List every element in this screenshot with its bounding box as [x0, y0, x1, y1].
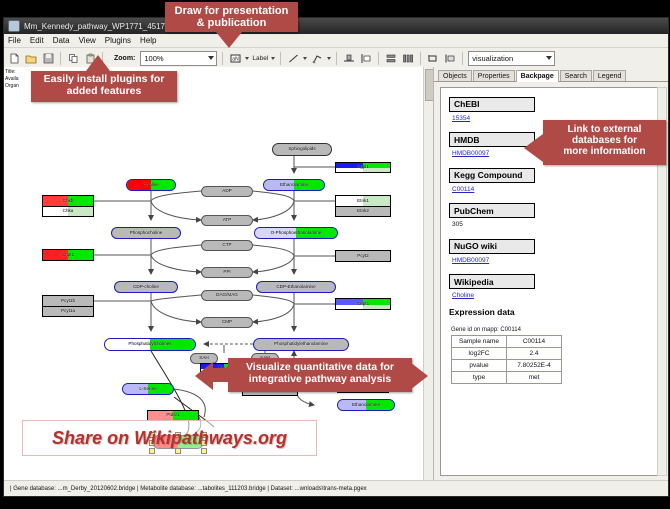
metabolite-cdp-ethanolamine[interactable]: CDP-Ethanolamine	[256, 281, 336, 293]
callout-links: Link to external databases for more info…	[543, 120, 666, 165]
node-label: Cept1	[357, 302, 369, 307]
gene-chpt1[interactable]: Chpt1	[42, 249, 94, 261]
metabolite-ctp[interactable]: CTP	[201, 240, 253, 251]
open-folder-icon[interactable]	[24, 51, 38, 65]
toolbar-separator	[420, 52, 421, 65]
node-label: Pcyt2	[357, 254, 369, 259]
chevron-down-icon	[208, 56, 214, 60]
node-label: CDP-choline	[133, 285, 159, 290]
db-header-kegg-compound: Kegg Compound	[449, 168, 535, 183]
toolbar-separator	[60, 52, 61, 65]
metabolite-ppi[interactable]: PPi	[201, 267, 253, 278]
gene-id-on-mapp: Gene id on mapp: C00114	[451, 327, 657, 333]
node-label: Phosphatidylethanolamine	[274, 342, 328, 347]
gene-sgpl1[interactable]: Sgpl1	[335, 162, 391, 173]
chevron-down-icon[interactable]	[245, 57, 249, 60]
screenshot-root: Mm_Kennedy_pathway_WP1771_45176.gpml Fil…	[0, 0, 670, 509]
meta-organism-label: Organ	[5, 83, 19, 90]
db-header-pubchem: PubChem	[449, 203, 535, 218]
callout-draw-arrow-stem	[224, 30, 234, 38]
meta-title-label: Title:	[5, 69, 19, 76]
label-dropdown-label[interactable]: Label	[252, 55, 268, 62]
metabolite-dag-mag[interactable]: DAG/MAG	[201, 290, 253, 301]
zoom-label: Zoom:	[114, 55, 135, 62]
visualization-combo[interactable]: visualization	[468, 51, 555, 66]
node-label: Chkb	[63, 199, 74, 204]
gene-etnk1[interactable]: Etnk1	[335, 195, 391, 206]
metabolite-phosphatidylcholines[interactable]: Phosphatidylcholines	[104, 338, 196, 351]
node-label: L-Serine	[139, 387, 156, 392]
node-label: Pcyt1b	[61, 299, 75, 304]
shape-icon[interactable]	[310, 51, 324, 65]
tab-properties[interactable]: Properties	[473, 70, 515, 81]
tab-backpage[interactable]: Backpage	[516, 70, 559, 82]
side-panel-tabs: Objects Properties Backpage Search Legen…	[434, 67, 668, 82]
metabolite-phosphocholine[interactable]: Phosphocholine	[111, 227, 181, 239]
tab-legend[interactable]: Legend	[593, 70, 626, 81]
gene-etnk2[interactable]: Etnk2	[335, 206, 391, 217]
db-header-hmdb: HMDB	[449, 132, 535, 147]
menu-item-help[interactable]: Help	[140, 36, 156, 45]
db-header-wikipedia: Wikipedia	[449, 274, 535, 289]
tab-search[interactable]: Search	[560, 70, 592, 81]
node-label: Ethanolamine	[352, 403, 380, 408]
table-row: pvalue 7.80252E-4	[452, 360, 562, 372]
node-label: Sphingolipids	[288, 147, 315, 152]
metabolite-choline-top[interactable]: Choline	[126, 179, 176, 191]
node-label: ATP	[223, 218, 232, 223]
cell-value: met	[507, 372, 562, 384]
node-label: O-Phosphoethanolamine	[271, 231, 322, 236]
metabolite-atp[interactable]: ATP	[201, 215, 253, 226]
toolbar-separator	[222, 52, 223, 65]
db-link-kegg-compound[interactable]: C00114	[452, 186, 657, 193]
table-row: type met	[452, 372, 562, 384]
status-bar: | Gene database: ...m_Derby_20120602.bri…	[4, 480, 668, 496]
status-bar-text: | Gene database: ...m_Derby_20120602.bri…	[4, 486, 367, 492]
chevron-down-icon[interactable]	[303, 57, 307, 60]
svg-text:aN: aN	[232, 56, 239, 62]
node-label: Etnk1	[357, 199, 369, 204]
zoom-value: 100%	[144, 54, 163, 63]
callout-plugins: Easily install plugins for added feature…	[31, 71, 177, 102]
chevron-down-icon[interactable]	[271, 57, 275, 60]
node-label: Sgpl1	[357, 165, 369, 170]
callout-share: Share on Wikipathways.org	[22, 420, 317, 456]
node-label: Chpt1	[62, 253, 74, 258]
node-label: Phosphatidylcholines	[128, 342, 171, 347]
toolbar-separator	[280, 52, 281, 65]
menu-item-data[interactable]: Data	[53, 36, 70, 45]
menu-bar: File Edit Data View Plugins Help	[4, 34, 668, 48]
tab-objects[interactable]: Objects	[438, 70, 472, 81]
group-icon[interactable]	[426, 51, 440, 65]
metabolite-adp[interactable]: ADP	[201, 186, 253, 197]
title-bar: Mm_Kennedy_pathway_WP1771_45176.gpml	[4, 18, 668, 34]
stack-icon[interactable]	[384, 51, 398, 65]
node-label: Phosphocholine	[130, 231, 163, 236]
gene-pcyt1b[interactable]: Pcyt1b	[42, 295, 94, 306]
menu-item-plugins[interactable]: Plugins	[105, 36, 131, 45]
metabolite-l-serine-left[interactable]: L-Serine	[122, 383, 174, 395]
db-value-pubchem: 305	[452, 221, 657, 228]
metabolite-ethanolamine-bottom[interactable]: Ethanolamine	[337, 399, 395, 411]
chevron-down-icon[interactable]	[327, 57, 331, 60]
metabolite-o-phosphoethanolamine[interactable]: O-Phosphoethanolamine	[254, 227, 338, 239]
metabolite-phosphatidylethanolamine[interactable]: Phosphatidylethanolamine	[253, 338, 349, 351]
node-label: ADP	[222, 189, 231, 194]
visualization-value: visualization	[472, 54, 513, 63]
callout-visualize: Visualize quantitative data for integrat…	[228, 358, 412, 392]
cell-label: log2FC	[452, 348, 507, 360]
node-label: PPi	[223, 270, 230, 275]
callout-draw: Draw for presentation & publication	[165, 2, 298, 32]
node-label: CDP-Ethanolamine	[276, 285, 315, 290]
node-label: Pcyt1a	[61, 309, 75, 314]
table-row: Sample name C00114	[452, 336, 562, 348]
db-header-nugo-wiki: NuGO wiki	[449, 239, 535, 254]
db-header-chebi: ChEBI	[449, 97, 535, 112]
gene-cept1[interactable]: Cept1	[335, 298, 391, 310]
align-icon[interactable]	[342, 51, 356, 65]
db-link-wikipedia[interactable]: Choline	[452, 292, 657, 299]
callout-plugins-arrow-stem	[93, 68, 103, 74]
node-label: Chka	[63, 209, 74, 214]
toolbar-separator	[462, 52, 463, 65]
canvas-vertical-scrollbar[interactable]	[423, 67, 433, 480]
callout-visualize-arrow-right	[410, 362, 428, 390]
order-icon[interactable]	[443, 51, 457, 65]
app-icon	[8, 20, 20, 32]
metabolite-cdp-choline[interactable]: CDP-choline	[114, 281, 178, 293]
toolbar-separator	[336, 52, 337, 65]
pathway-metadata: Title: Availa Organ	[5, 69, 19, 90]
menu-item-file[interactable]: File	[8, 36, 21, 45]
node-label: Ptdsr1	[166, 413, 179, 418]
menu-item-view[interactable]: View	[79, 36, 96, 45]
node-label: Ethanolamine	[280, 183, 308, 188]
datanode-icon[interactable]: aN	[228, 51, 242, 65]
expression-data-heading: Expression data	[449, 307, 657, 317]
cell-value: 7.80252E-4	[507, 360, 562, 372]
callout-visualize-stem-left	[211, 368, 231, 382]
line-icon[interactable]	[286, 51, 300, 65]
metabolite-cmp[interactable]: CMP	[201, 317, 253, 328]
db-link-nugo-wiki[interactable]: HMDB00097	[452, 257, 657, 264]
node-label: DAG/MAG	[216, 293, 238, 298]
zoom-combo[interactable]: 100%	[140, 51, 217, 66]
chevron-down-icon	[546, 56, 552, 60]
node-label: CTP	[222, 243, 231, 248]
cell-value: C00114	[507, 336, 562, 348]
metabolite-ethanolamine[interactable]: Ethanolamine	[263, 179, 325, 191]
node-label: CMP	[222, 320, 232, 325]
expression-data-table: Sample name C00114 log2FC 2.4 pvalue 7.8…	[451, 335, 562, 384]
gene-chka[interactable]: Chka	[42, 206, 94, 217]
gene-pcyt2[interactable]: Pcyt2	[335, 250, 391, 262]
node-label: Choline	[143, 183, 159, 188]
cell-label: pvalue	[452, 360, 507, 372]
node-label: Etnk2	[357, 209, 369, 214]
canvas-scrollbar-thumb[interactable]	[425, 69, 434, 101]
save-icon[interactable]	[41, 51, 55, 65]
gene-chkb[interactable]: Chkb	[42, 195, 94, 206]
meta-availability-label: Availa	[5, 76, 19, 83]
copy-icon[interactable]	[66, 51, 80, 65]
cell-label: type	[452, 372, 507, 384]
distribute-icon[interactable]	[401, 51, 415, 65]
align-left-icon[interactable]	[359, 51, 373, 65]
cell-value: 2.4	[507, 348, 562, 360]
metabolite-sphingolipids[interactable]: Sphingolipids	[272, 143, 332, 156]
node-label: SAH	[199, 356, 208, 361]
cell-label: Sample name	[452, 336, 507, 348]
table-row: log2FC 2.4	[452, 348, 562, 360]
menu-item-edit[interactable]: Edit	[30, 36, 44, 45]
pathway-canvas[interactable]: Title: Availa Organ	[4, 67, 434, 480]
callout-links-arrow-stem	[540, 140, 548, 154]
new-file-icon[interactable]	[7, 51, 21, 65]
toolbar-separator	[378, 52, 379, 65]
gene-pcyt1a[interactable]: Pcyt1a	[42, 306, 94, 317]
